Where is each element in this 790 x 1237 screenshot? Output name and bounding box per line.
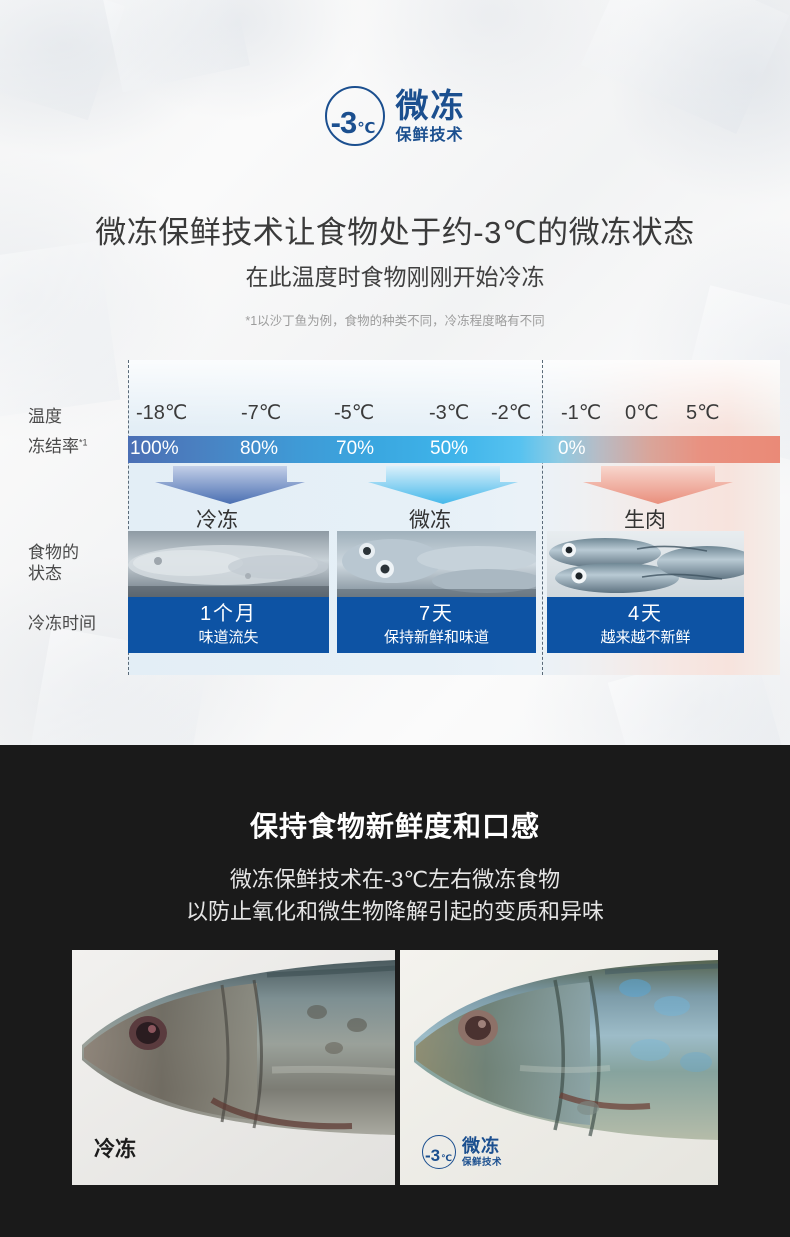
freeze-rate-label: 50% — [430, 438, 468, 460]
zone-arrow-band: 冷冻 微冻 — [128, 463, 780, 531]
zone-caption-frozen: 冷冻 — [196, 504, 238, 534]
freeze-rate-gradient-bar: 100% 80% 70% 50% 0% — [128, 436, 780, 463]
freeze-rate-label: 70% — [336, 438, 374, 460]
time-box-frozen: 1个月 味道流失 — [128, 597, 329, 653]
zone-caption-softfreeze: 微冻 — [409, 504, 451, 534]
time-value: 1个月 — [200, 603, 257, 626]
temperature-badge-icon: -3 ℃ — [422, 1135, 456, 1169]
comparison-photo-softfreeze: -3 ℃ 微冻 保鲜技术 — [400, 950, 718, 1185]
zone-arrow-raw-icon — [583, 466, 733, 504]
row-label-food-state-line1: 食物的 — [28, 542, 79, 563]
badge-unit: ℃ — [441, 1154, 452, 1163]
dark-section-heading: 保持食物新鲜度和口感 — [0, 805, 790, 845]
time-box-raw: 4天 越来越不新鲜 — [547, 597, 744, 653]
ice-shard-decor — [100, 0, 250, 92]
temp-label: -18℃ — [136, 400, 187, 425]
raw-fish-illustration — [547, 531, 744, 597]
badge-unit: ℃ — [357, 121, 375, 136]
comparison-label-frozen: 冷冻 — [94, 1133, 136, 1163]
temp-label: 0℃ — [625, 400, 659, 425]
badge-value: -3 — [331, 107, 357, 138]
food-photo-raw — [547, 531, 744, 597]
temp-label: -5℃ — [334, 400, 374, 425]
temp-label: -7℃ — [241, 400, 281, 425]
time-description: 保持新鲜和味道 — [384, 628, 489, 648]
product-detail-page: -3 ℃ 微冻 保鲜技术 微冻保鲜技术让食物处于约-3℃的微冻状态 在此温度时食… — [0, 0, 790, 1237]
row-label-food-state-line2: 状态 — [28, 563, 79, 584]
row-label-freeze-rate-text: 冻结率 — [28, 437, 79, 456]
time-box-softfreeze: 7天 保持新鲜和味道 — [337, 597, 536, 653]
brand-logo: -3 ℃ 微冻 保鲜技术 — [0, 86, 790, 146]
dark-section-line2: 以防止氧化和微生物降解引起的变质和异味 — [0, 895, 790, 928]
temperature-badge-icon: -3 ℃ — [325, 86, 385, 146]
temp-label: -1℃ — [561, 400, 601, 425]
temp-label: -3℃ — [429, 400, 469, 425]
comparison-photo-frozen: 冷冻 — [72, 950, 395, 1185]
frozen-fish-illustration — [128, 531, 329, 597]
dark-comparison-section: 保持食物新鲜度和口感 微冻保鲜技术在-3℃左右微冻食物 以防止氧化和微生物降解引… — [0, 745, 790, 1237]
top-ice-section: -3 ℃ 微冻 保鲜技术 微冻保鲜技术让食物处于约-3℃的微冻状态 在此温度时食… — [0, 0, 790, 745]
page-subtitle: 在此温度时食物刚刚开始冷冻 — [0, 258, 790, 292]
logo-name: 微冻 — [396, 89, 466, 122]
freeze-rate-label: 80% — [240, 438, 278, 460]
zone-caption-raw: 生肉 — [624, 504, 666, 534]
time-description: 越来越不新鲜 — [600, 628, 690, 648]
dark-section-line1: 微冻保鲜技术在-3℃左右微冻食物 — [0, 863, 790, 896]
page-title: 微冻保鲜技术让食物处于约-3℃的微冻状态 — [0, 207, 790, 252]
zone-arrow-frozen-icon — [155, 466, 305, 504]
logo-name: 微冻 — [462, 1137, 502, 1155]
freeze-rate-label: 100% — [130, 438, 179, 460]
row-label-freeze-rate-sup: *1 — [79, 437, 88, 447]
row-label-freeze-rate: 冻结率*1 — [28, 436, 88, 457]
temperature-row: -18℃ -7℃ -5℃ -3℃ -2℃ -1℃ 0℃ 5℃ — [128, 400, 780, 430]
comparison-logo-softfreeze: -3 ℃ 微冻 保鲜技术 — [422, 1135, 502, 1169]
softfrozen-fish-illustration — [337, 531, 536, 597]
time-description: 味道流失 — [198, 628, 258, 648]
temperature-comparison-chart: 温度 冻结率*1 食物的 状态 冷冻时间 -18℃ -7℃ -5℃ - — [0, 360, 790, 675]
badge-value: -3 — [425, 1147, 440, 1164]
chart-grid: -18℃ -7℃ -5℃ -3℃ -2℃ -1℃ 0℃ 5℃ 100% 80% … — [128, 360, 780, 675]
logo-tagline: 保鲜技术 — [462, 1158, 502, 1168]
row-label-temperature: 温度 — [28, 406, 62, 427]
time-value: 7天 — [419, 603, 454, 626]
temp-label: -2℃ — [491, 400, 531, 425]
time-value: 4天 — [628, 603, 663, 626]
freeze-rate-label: 0% — [558, 438, 585, 460]
freeze-time-boxes: 1个月 味道流失 7天 保持新鲜和味道 4天 越来越不新鲜 — [128, 597, 780, 653]
temp-label: 5℃ — [686, 400, 720, 425]
food-photo-frozen — [128, 531, 329, 597]
row-label-food-state: 食物的 状态 — [28, 542, 79, 585]
food-photo-softfreeze — [337, 531, 536, 597]
row-label-freeze-time: 冷冻时间 — [28, 613, 96, 634]
logo-tagline: 保鲜技术 — [396, 128, 466, 144]
food-state-photos — [128, 531, 780, 597]
footnote-text: *1以沙丁鱼为例，食物的种类不同，冷冻程度略有不同 — [0, 310, 790, 329]
zone-arrow-softfreeze-icon — [368, 466, 518, 504]
